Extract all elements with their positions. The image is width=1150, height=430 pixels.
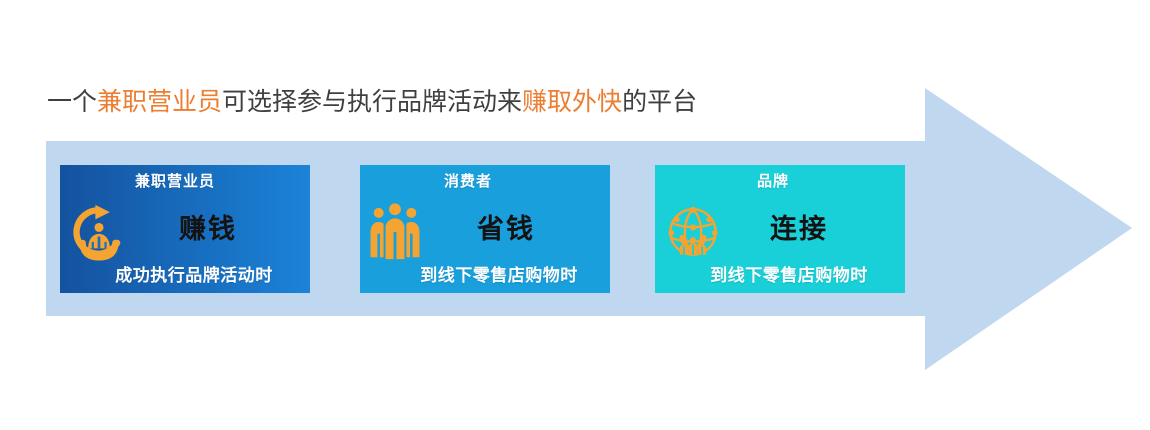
page-title: 一个兼职营业员可选择参与执行品牌活动来赚取外快的平台 [47,86,697,118]
card-main-word: 赚钱 [60,213,310,247]
card-header-label: 兼职营业员 [60,171,310,191]
diagram-canvas: 一个兼职营业员可选择参与执行品牌活动来赚取外快的平台 兼职营业员 [0,0,1150,430]
title-segment-1: 一个 [47,87,97,116]
card-main-word: 连接 [655,213,905,247]
card-part-time-clerk[interactable]: 兼职营业员 赚钱 成功执行品牌活动时 [60,165,310,293]
card-caption: 到线下零售店购物时 [360,265,610,287]
card-consumer[interactable]: 消费者 省钱 到线下零售店购物时 [360,165,610,293]
card-caption: 成功执行品牌活动时 [60,265,310,287]
card-header-label: 品牌 [655,171,905,191]
card-brand[interactable]: 品牌 [655,165,905,293]
card-header-label: 消费者 [360,171,610,191]
card-main-word: 省钱 [360,213,610,247]
title-segment-4-highlight: 赚取外快 [522,87,622,116]
card-caption: 到线下零售店购物时 [655,265,905,287]
title-segment-3: 可选择参与执行品牌活动来 [222,87,522,116]
title-segment-5: 的平台 [622,87,697,116]
title-segment-2-highlight: 兼职营业员 [97,87,222,116]
